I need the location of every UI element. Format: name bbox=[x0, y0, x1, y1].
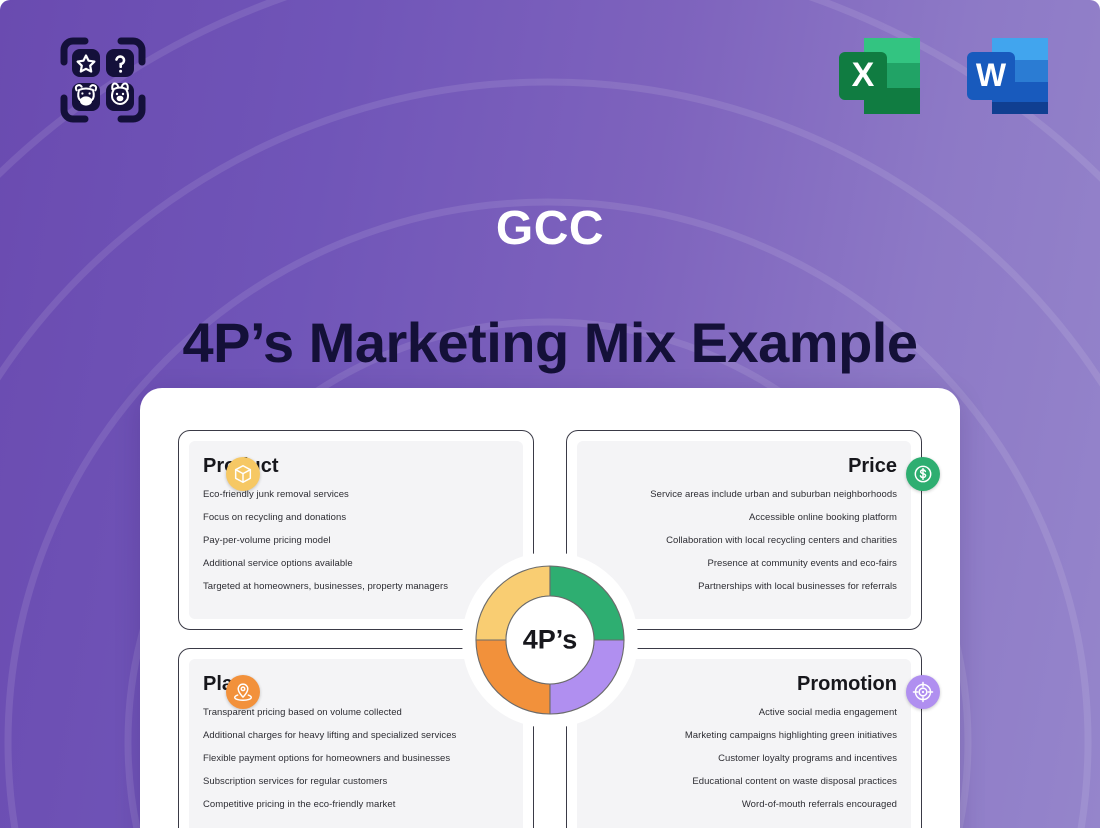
bullet-item: Educational content on waste disposal pr… bbox=[591, 777, 897, 787]
bullet-item: Pay-per-volume pricing model bbox=[203, 536, 509, 546]
bullet-item: Marketing campaigns highlighting green i… bbox=[591, 731, 897, 741]
word-icon[interactable]: W bbox=[959, 28, 1055, 124]
quadrant-price-badge[interactable] bbox=[906, 457, 940, 491]
page-title: 4P’s Marketing Mix Example bbox=[0, 312, 1100, 374]
bullet-item: Focus on recycling and donations bbox=[203, 513, 509, 523]
quadrant-promotion-badge[interactable] bbox=[906, 675, 940, 709]
bullet-item: Competitive pricing in the eco-friendly … bbox=[203, 800, 509, 810]
star-tile bbox=[72, 49, 100, 77]
donut-svg bbox=[462, 552, 638, 728]
donut-chart: 4P’s bbox=[462, 552, 638, 728]
dollar-coin-icon bbox=[912, 463, 934, 485]
bullet-item: Word-of-mouth referrals encouraged bbox=[591, 800, 897, 810]
excel-letter: X bbox=[852, 56, 875, 94]
bullet-item: Service areas include urban and suburban… bbox=[591, 490, 897, 500]
bullet-item: Subscription services for regular custom… bbox=[203, 777, 509, 787]
word-letter: W bbox=[976, 57, 1007, 93]
quadrant-place-badge[interactable] bbox=[226, 675, 260, 709]
quadrant-product-badge[interactable] bbox=[226, 457, 260, 491]
kicker-title: GCC bbox=[0, 205, 1100, 253]
bullet-item: Accessible online booking platform bbox=[591, 513, 897, 523]
bullet-item: Eco-friendly junk removal services bbox=[203, 490, 509, 500]
pet-quiz-grid-icon bbox=[55, 32, 151, 128]
office-app-icons: X W bbox=[831, 28, 1055, 124]
donut-hole bbox=[506, 596, 594, 684]
slide-canvas: X W GCC 4P’s Marketing Mix Example Produ… bbox=[0, 0, 1100, 828]
bullet-item: Flexible payment options for homeowners … bbox=[203, 754, 509, 764]
brand-logo[interactable] bbox=[55, 32, 151, 128]
target-crosshair-icon bbox=[912, 681, 934, 703]
excel-icon[interactable]: X bbox=[831, 28, 927, 124]
bullet-item: Customer loyalty programs and incentives bbox=[591, 754, 897, 764]
package-box-icon bbox=[232, 463, 254, 485]
bullet-item: Additional charges for heavy lifting and… bbox=[203, 731, 509, 741]
bullet-item: Collaboration with local recycling cente… bbox=[591, 536, 897, 546]
quadrant-price-title: Price bbox=[591, 455, 897, 477]
location-pin-icon bbox=[232, 681, 254, 703]
